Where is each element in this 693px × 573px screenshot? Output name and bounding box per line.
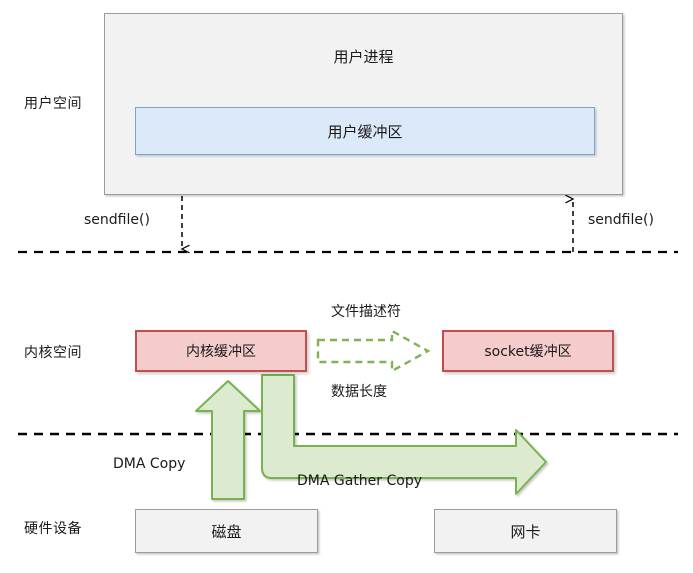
user-process-box: 用户进程 用户缓冲区 bbox=[104, 13, 623, 195]
descriptor-block-arrow bbox=[318, 331, 428, 371]
socket-buffer-box: socket缓冲区 bbox=[442, 330, 614, 372]
user-process-label: 用户进程 bbox=[105, 46, 622, 67]
user-buffer-box: 用户缓冲区 bbox=[135, 107, 595, 155]
layer-label-hardware: 硬件设备 bbox=[24, 518, 82, 538]
layer-label-kernel-space: 内核空间 bbox=[24, 342, 82, 362]
disk-box: 磁盘 bbox=[135, 509, 318, 553]
dma-gather-copy-label: DMA Gather Copy bbox=[297, 473, 422, 489]
sendfile-right-label: sendfile() bbox=[588, 212, 654, 228]
kernel-buffer-box: 内核缓冲区 bbox=[135, 330, 307, 372]
dma-copy-arrow bbox=[196, 381, 260, 499]
data-length-label: 数据长度 bbox=[331, 381, 387, 401]
zero-copy-sendfile-diagram: 用户空间 内核空间 硬件设备 用户进程 用户缓冲区 内核缓冲区 socket缓冲… bbox=[0, 0, 693, 573]
network-card-box: 网卡 bbox=[434, 509, 617, 553]
sendfile-left-label: sendfile() bbox=[84, 212, 150, 228]
user-buffer-label: 用户缓冲区 bbox=[136, 121, 594, 142]
layer-label-user-space: 用户空间 bbox=[24, 93, 82, 113]
dma-copy-label: DMA Copy bbox=[113, 456, 185, 472]
file-descriptor-label: 文件描述符 bbox=[331, 301, 401, 321]
